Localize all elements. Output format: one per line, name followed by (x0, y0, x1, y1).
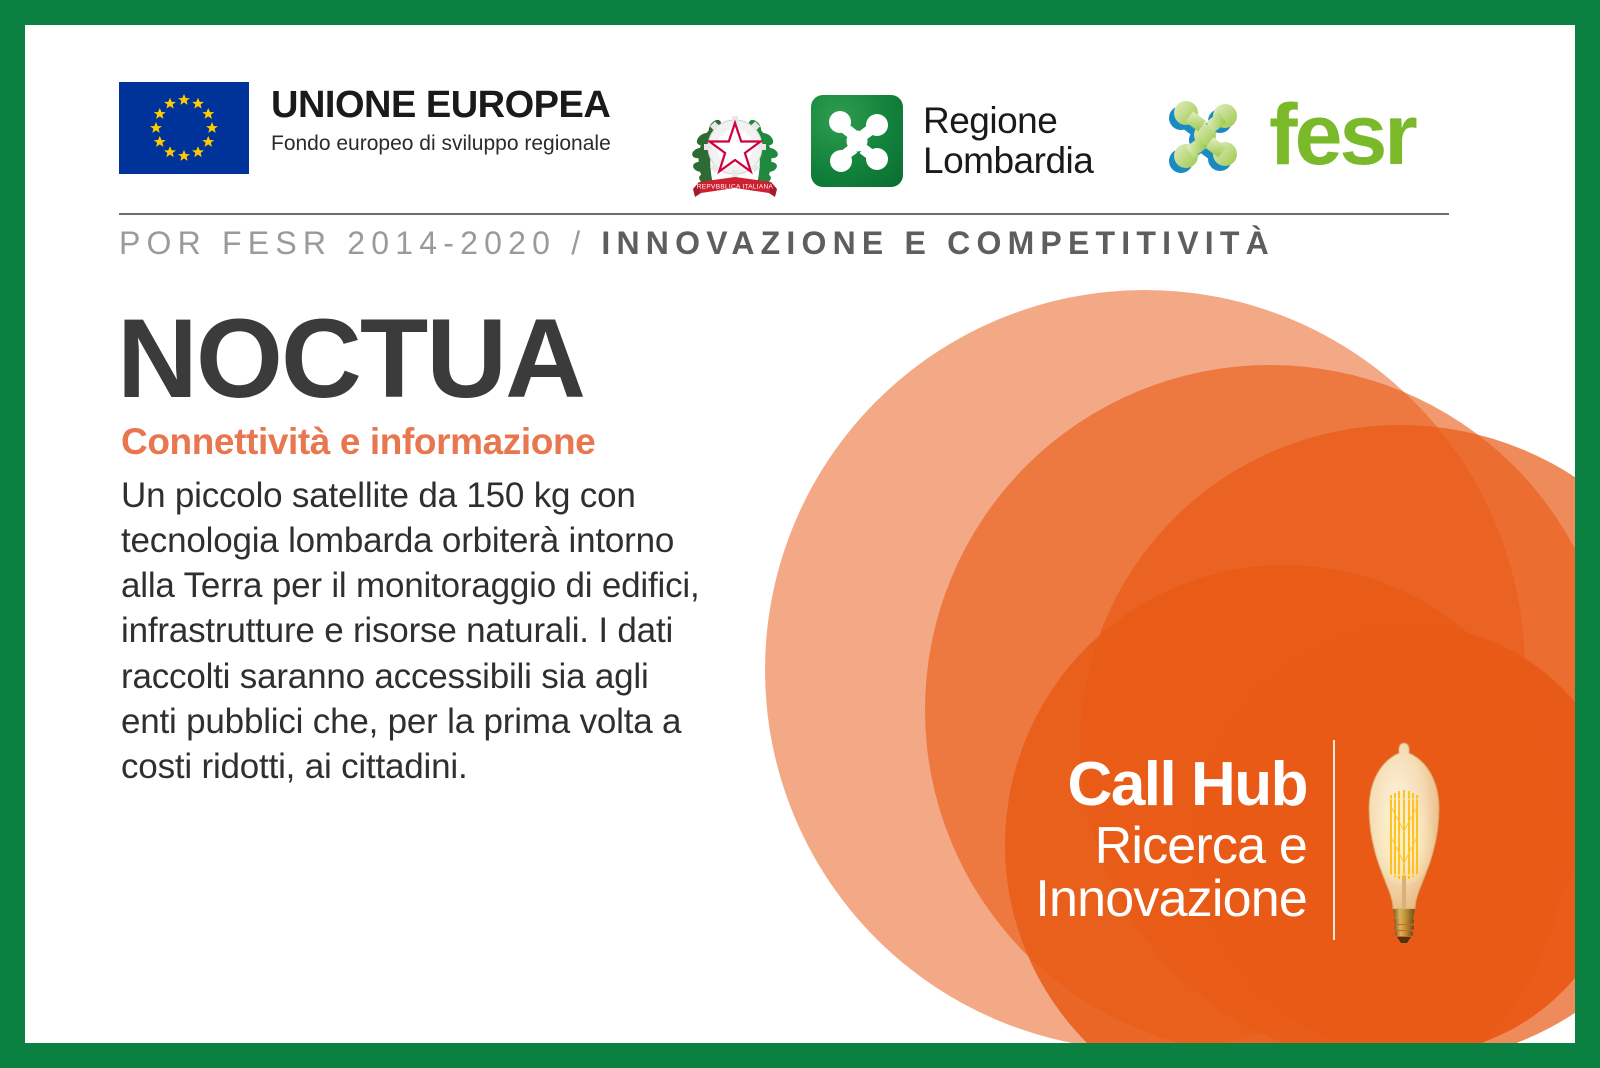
italian-republic-emblem-icon: REPVBBLICA ITALIANA (685, 97, 785, 205)
poster-card: UNIONE EUROPEA Fondo europeo di sviluppo… (25, 25, 1575, 1043)
eu-subtitle: Fondo europeo di sviluppo regionale (271, 133, 611, 154)
eu-text-block: UNIONE EUROPEA Fondo europeo di sviluppo… (271, 82, 611, 154)
call-hub-lockup: Call Hub Ricerca e Innovazione (1035, 735, 1447, 945)
regione-lombardia-line2: Lombardia (923, 141, 1093, 181)
fesr-logo-block: fesr (1155, 85, 1415, 185)
eu-title: UNIONE EUROPEA (271, 86, 611, 124)
program-tagline: POR FESR 2014-2020 / INNOVAZIONE E COMPE… (119, 227, 1275, 259)
call-hub-subtitle-line1: Ricerca e (1035, 820, 1307, 873)
eu-flag-icon (119, 82, 249, 174)
tagline-program: POR FESR 2014-2020 (119, 225, 556, 261)
call-hub-title: Call Hub (1035, 754, 1307, 816)
regione-lombardia-text: Regione Lombardia (923, 101, 1093, 181)
eu-logo-block: UNIONE EUROPEA Fondo europeo di sviluppo… (119, 82, 611, 174)
header-divider (119, 213, 1449, 215)
call-hub-text: Call Hub Ricerca e Innovazione (1035, 754, 1333, 926)
rosa-camuna-icon (811, 95, 903, 187)
project-description: Un piccolo satellite da 150 kg con tecno… (121, 473, 701, 789)
call-hub-divider (1333, 740, 1335, 940)
regione-lombardia-logo-block: Regione Lombardia (811, 95, 1093, 187)
edison-lightbulb-icon (1361, 735, 1447, 945)
project-title: NOCTUA (117, 303, 584, 415)
tagline-theme: INNOVAZIONE E COMPETITIVITÀ (601, 225, 1275, 261)
project-subtitle: Connettività e informazione (121, 423, 595, 460)
fesr-wordmark: fesr (1269, 97, 1415, 174)
svg-text:REPVBBLICA ITALIANA: REPVBBLICA ITALIANA (697, 184, 774, 191)
circle-layer-3 (1080, 425, 1575, 1043)
tagline-separator: / (571, 225, 586, 261)
call-hub-subtitle-line2: Innovazione (1035, 873, 1307, 926)
logo-row: UNIONE EUROPEA Fondo europeo di sviluppo… (25, 25, 1575, 210)
poster-frame: UNIONE EUROPEA Fondo europeo di sviluppo… (0, 0, 1600, 1068)
regione-lombardia-line1: Regione (923, 101, 1093, 141)
fesr-flower-icon (1155, 85, 1255, 185)
